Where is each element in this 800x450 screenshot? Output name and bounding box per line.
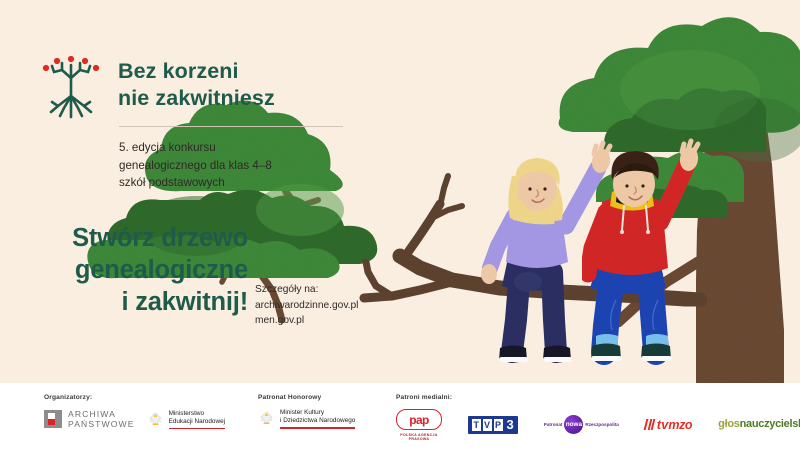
minister-kultury-logo[interactable]: Minister Kultury i Dziedzictwa Narodoweg…: [258, 409, 355, 429]
tvp-letter-t: T: [472, 419, 481, 431]
mkidn-line2: i Dziedzictwa Narodowego: [280, 417, 355, 425]
footer-group-honorary-patronage: Patronat Honorowy Minister Kultury i Dzi…: [258, 394, 355, 429]
pap-subtitle: POLSKA AGENCJA PRASOWA: [396, 433, 442, 441]
contest-subtitle: 5. edycja konkursu genealogicznego dla k…: [119, 139, 369, 192]
men-label: Ministerstwo Edukacji Narodowej: [169, 410, 225, 430]
nowa-prefix: Patronat: [544, 422, 563, 427]
subtitle-line3: szkół podstawowych: [119, 174, 369, 192]
ministerstwo-edukacji-narodowej-logo[interactable]: Ministerstwo Edukacji Narodowej: [147, 410, 225, 430]
glos-part1: głos: [718, 418, 739, 430]
archiwa-label: ARCHIWA PAŃSTWOWE: [68, 409, 135, 430]
tvp-letter-p: P: [494, 419, 503, 431]
men-line2: Edukacji Narodowej: [169, 418, 225, 426]
details-url-archiwarodzinne[interactable]: archiwarodzinne.gov.pl: [255, 298, 380, 314]
footer-caption-organizers: Organizatorzy:: [44, 394, 225, 401]
tvmzo-logo[interactable]: tv mzo: [645, 418, 692, 431]
nowa-logo[interactable]: Patronat nowa Rzeczpospolita: [544, 415, 619, 434]
pap-badge-icon: pap: [396, 409, 442, 430]
headline-line2: genealogiczne: [10, 254, 248, 286]
mkidn-line1: Minister Kultury: [280, 409, 355, 417]
header-divider: [119, 126, 343, 127]
nowa-mark: nowa: [566, 421, 582, 428]
footer-caption-patronage: Patronat Honorowy: [258, 394, 355, 401]
mkidn-label: Minister Kultury i Dziedzictwa Narodoweg…: [280, 409, 355, 429]
footer-group-organizers: Organizatorzy: ARCHIWA PAŃSTWOWE: [44, 394, 225, 430]
nowa-circle-icon: nowa: [564, 415, 583, 434]
mkidn-red-rule: [280, 427, 355, 428]
brand-title: Bez korzeni nie zakwitniesz: [118, 58, 275, 111]
archiwa-line2: PAŃSTWOWE: [68, 419, 135, 429]
pap-logo[interactable]: pap POLSKA AGENCJA PRASOWA: [396, 409, 442, 441]
headline-line1: Stwórz drzewo: [10, 222, 248, 254]
tvp3-logo[interactable]: T V P 3: [468, 416, 518, 434]
tvp-channel-number: 3: [507, 419, 514, 431]
tvmzo-bars-icon: [645, 419, 655, 430]
archiwa-panstwowe-logo[interactable]: ARCHIWA PAŃSTWOWE: [44, 409, 135, 430]
subtitle-line2: genealogicznego dla klas 4–8: [119, 157, 369, 175]
tvmzo-text: mzo: [668, 419, 692, 432]
footer-bar: Organizatorzy: ARCHIWA PAŃSTWOWE: [0, 383, 800, 450]
tree-with-roots-logo: [38, 52, 104, 120]
men-line1: Ministerstwo: [169, 410, 225, 418]
tvmzo-tv-mark: tv: [657, 418, 669, 431]
brand-title-line2: nie zakwitniesz: [118, 85, 275, 112]
details-url-men[interactable]: men.gov.pl: [255, 313, 380, 329]
footer-group-media-partners: Patroni medialni: pap POLSKA AGENCJA PRA…: [396, 394, 800, 441]
glos-nauczycielski-logo[interactable]: głosnauczycielski: [718, 419, 800, 430]
archiwa-line1: ARCHIWA: [68, 409, 135, 419]
polish-eagle-icon: [258, 410, 275, 427]
brand-lockup: Bez korzeni nie zakwitniesz: [38, 52, 275, 120]
pap-mark: pap: [409, 414, 429, 426]
footer-caption-media: Patroni medialni:: [396, 394, 800, 401]
archiwa-mark-icon: [44, 410, 62, 428]
page-title: Stwórz drzewo genealogiczne i zakwitnij!: [10, 222, 248, 318]
men-red-rule: [169, 428, 225, 429]
poster-root: Bez korzeni nie zakwitniesz 5. edycja ko…: [0, 0, 800, 450]
tvp-letter-v: V: [483, 419, 492, 431]
glos-part2: nauczycielski: [740, 418, 800, 430]
details-label: Szczegóły na:: [255, 282, 380, 298]
nowa-suffix: Rzeczpospolita: [585, 422, 618, 427]
subtitle-line1: 5. edycja konkursu: [119, 139, 369, 157]
polish-eagle-icon: [147, 411, 164, 428]
headline-line3: i zakwitnij!: [10, 286, 248, 318]
brand-title-line1: Bez korzeni: [118, 58, 275, 85]
details-block: Szczegóły na: archiwarodzinne.gov.pl men…: [255, 282, 380, 329]
